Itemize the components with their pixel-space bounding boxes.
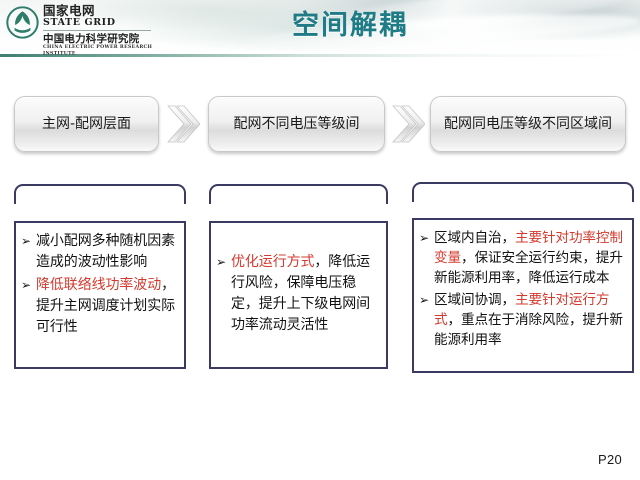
plain-text: ，重点在于消除风险，提升新能源利用率 <box>434 312 623 348</box>
stage-box-1-label: 主网-配网层面 <box>42 115 131 134</box>
content-panel-2-inner: ➢ 优化运行方式，降低运行风险，保障电压稳定，提升上下级电网间功率流动灵活性 <box>216 252 380 338</box>
stage-box-2: 配网不同电压等级间 <box>208 96 385 152</box>
logo-institute-en: CHINA ELECTRIC POWER RESEARCH INSTITUTE <box>43 45 166 58</box>
list-item: ➢ 减小配网多种随机因素造成的波动性影响 <box>21 231 178 273</box>
bullet-text: 减小配网多种随机因素造成的波动性影响 <box>36 231 178 273</box>
arrow-bullet-icon: ➢ <box>216 252 231 273</box>
plain-text: ，保证安全运行约束，提升新能源利用率，降低运行成本 <box>434 250 623 286</box>
list-item: ➢ 降低联络线功率波动，提升主网调度计划实际可行性 <box>21 275 178 338</box>
plain-text: 区域内自治， <box>434 230 515 246</box>
arrow-bullet-icon: ➢ <box>419 290 434 310</box>
page-title: 空间解耦 <box>292 9 408 42</box>
logo-company-en: STATE GRID <box>43 17 166 28</box>
double-chevron-right-icon-2 <box>391 103 425 145</box>
page-number: P20 <box>598 452 622 467</box>
arrow-bullet-icon: ➢ <box>419 228 434 248</box>
state-grid-emblem-icon <box>6 6 39 39</box>
content-panel-3: ➢ 区域内自治，主要针对功率控制变量，保证安全运行约束，提升新能源利用率，降低运… <box>412 218 634 373</box>
stage-box-3-label: 配网同电压等级不同区域间 <box>444 115 612 134</box>
arrow-bullet-icon: ➢ <box>21 231 36 252</box>
bullet-text: 降低联络线功率波动，提升主网调度计划实际可行性 <box>36 275 178 338</box>
bullet-text: 区域内自治，主要针对功率控制变量，保证安全运行约束，提升新能源利用率，降低运行成… <box>434 228 626 288</box>
organization-logo: 国家电网 STATE GRID 中国电力科学研究院 CHINA ELECTRIC… <box>6 3 166 53</box>
highlighted-text: 降低联络线功率波动 <box>36 277 161 293</box>
double-chevron-right-icon-1 <box>166 103 200 145</box>
bracket-connector-3 <box>412 182 634 202</box>
highlighted-text: 优化运行方式 <box>231 254 314 270</box>
logo-text-block: 国家电网 STATE GRID 中国电力科学研究院 CHINA ELECTRIC… <box>43 3 166 57</box>
bracket-connector-2 <box>209 184 388 204</box>
content-panel-1: ➢ 减小配网多种随机因素造成的波动性影响 ➢ 降低联络线功率波动，提升主网调度计… <box>14 221 186 369</box>
plain-text: 减小配网多种随机因素造成的波动性影响 <box>36 233 175 270</box>
logo-company-cn: 国家电网 <box>43 4 166 17</box>
logo-divider <box>43 30 151 31</box>
arrow-bullet-icon: ➢ <box>21 275 36 296</box>
content-panel-2: ➢ 优化运行方式，降低运行风险，保障电压稳定，提升上下级电网间功率流动灵活性 <box>209 221 388 369</box>
logo-institute-cn: 中国电力科学研究院 <box>43 33 166 45</box>
bullet-text: 优化运行方式，降低运行风险，保障电压稳定，提升上下级电网间功率流动灵活性 <box>231 252 380 336</box>
bullet-text: 区域间协调，主要针对运行方式，重点在于消除风险，提升新能源利用率 <box>434 290 626 350</box>
bracket-connector-1 <box>14 184 186 204</box>
plain-text: 区域间协调， <box>434 292 515 308</box>
list-item: ➢ 优化运行方式，降低运行风险，保障电压稳定，提升上下级电网间功率流动灵活性 <box>216 252 380 336</box>
stage-box-2-label: 配网不同电压等级间 <box>234 115 360 134</box>
list-item: ➢ 区域间协调，主要针对运行方式，重点在于消除风险，提升新能源利用率 <box>419 290 626 350</box>
list-item: ➢ 区域内自治，主要针对功率控制变量，保证安全运行约束，提升新能源利用率，降低运… <box>419 228 626 288</box>
stage-box-1: 主网-配网层面 <box>14 96 159 152</box>
stage-box-3: 配网同电压等级不同区域间 <box>430 96 626 152</box>
